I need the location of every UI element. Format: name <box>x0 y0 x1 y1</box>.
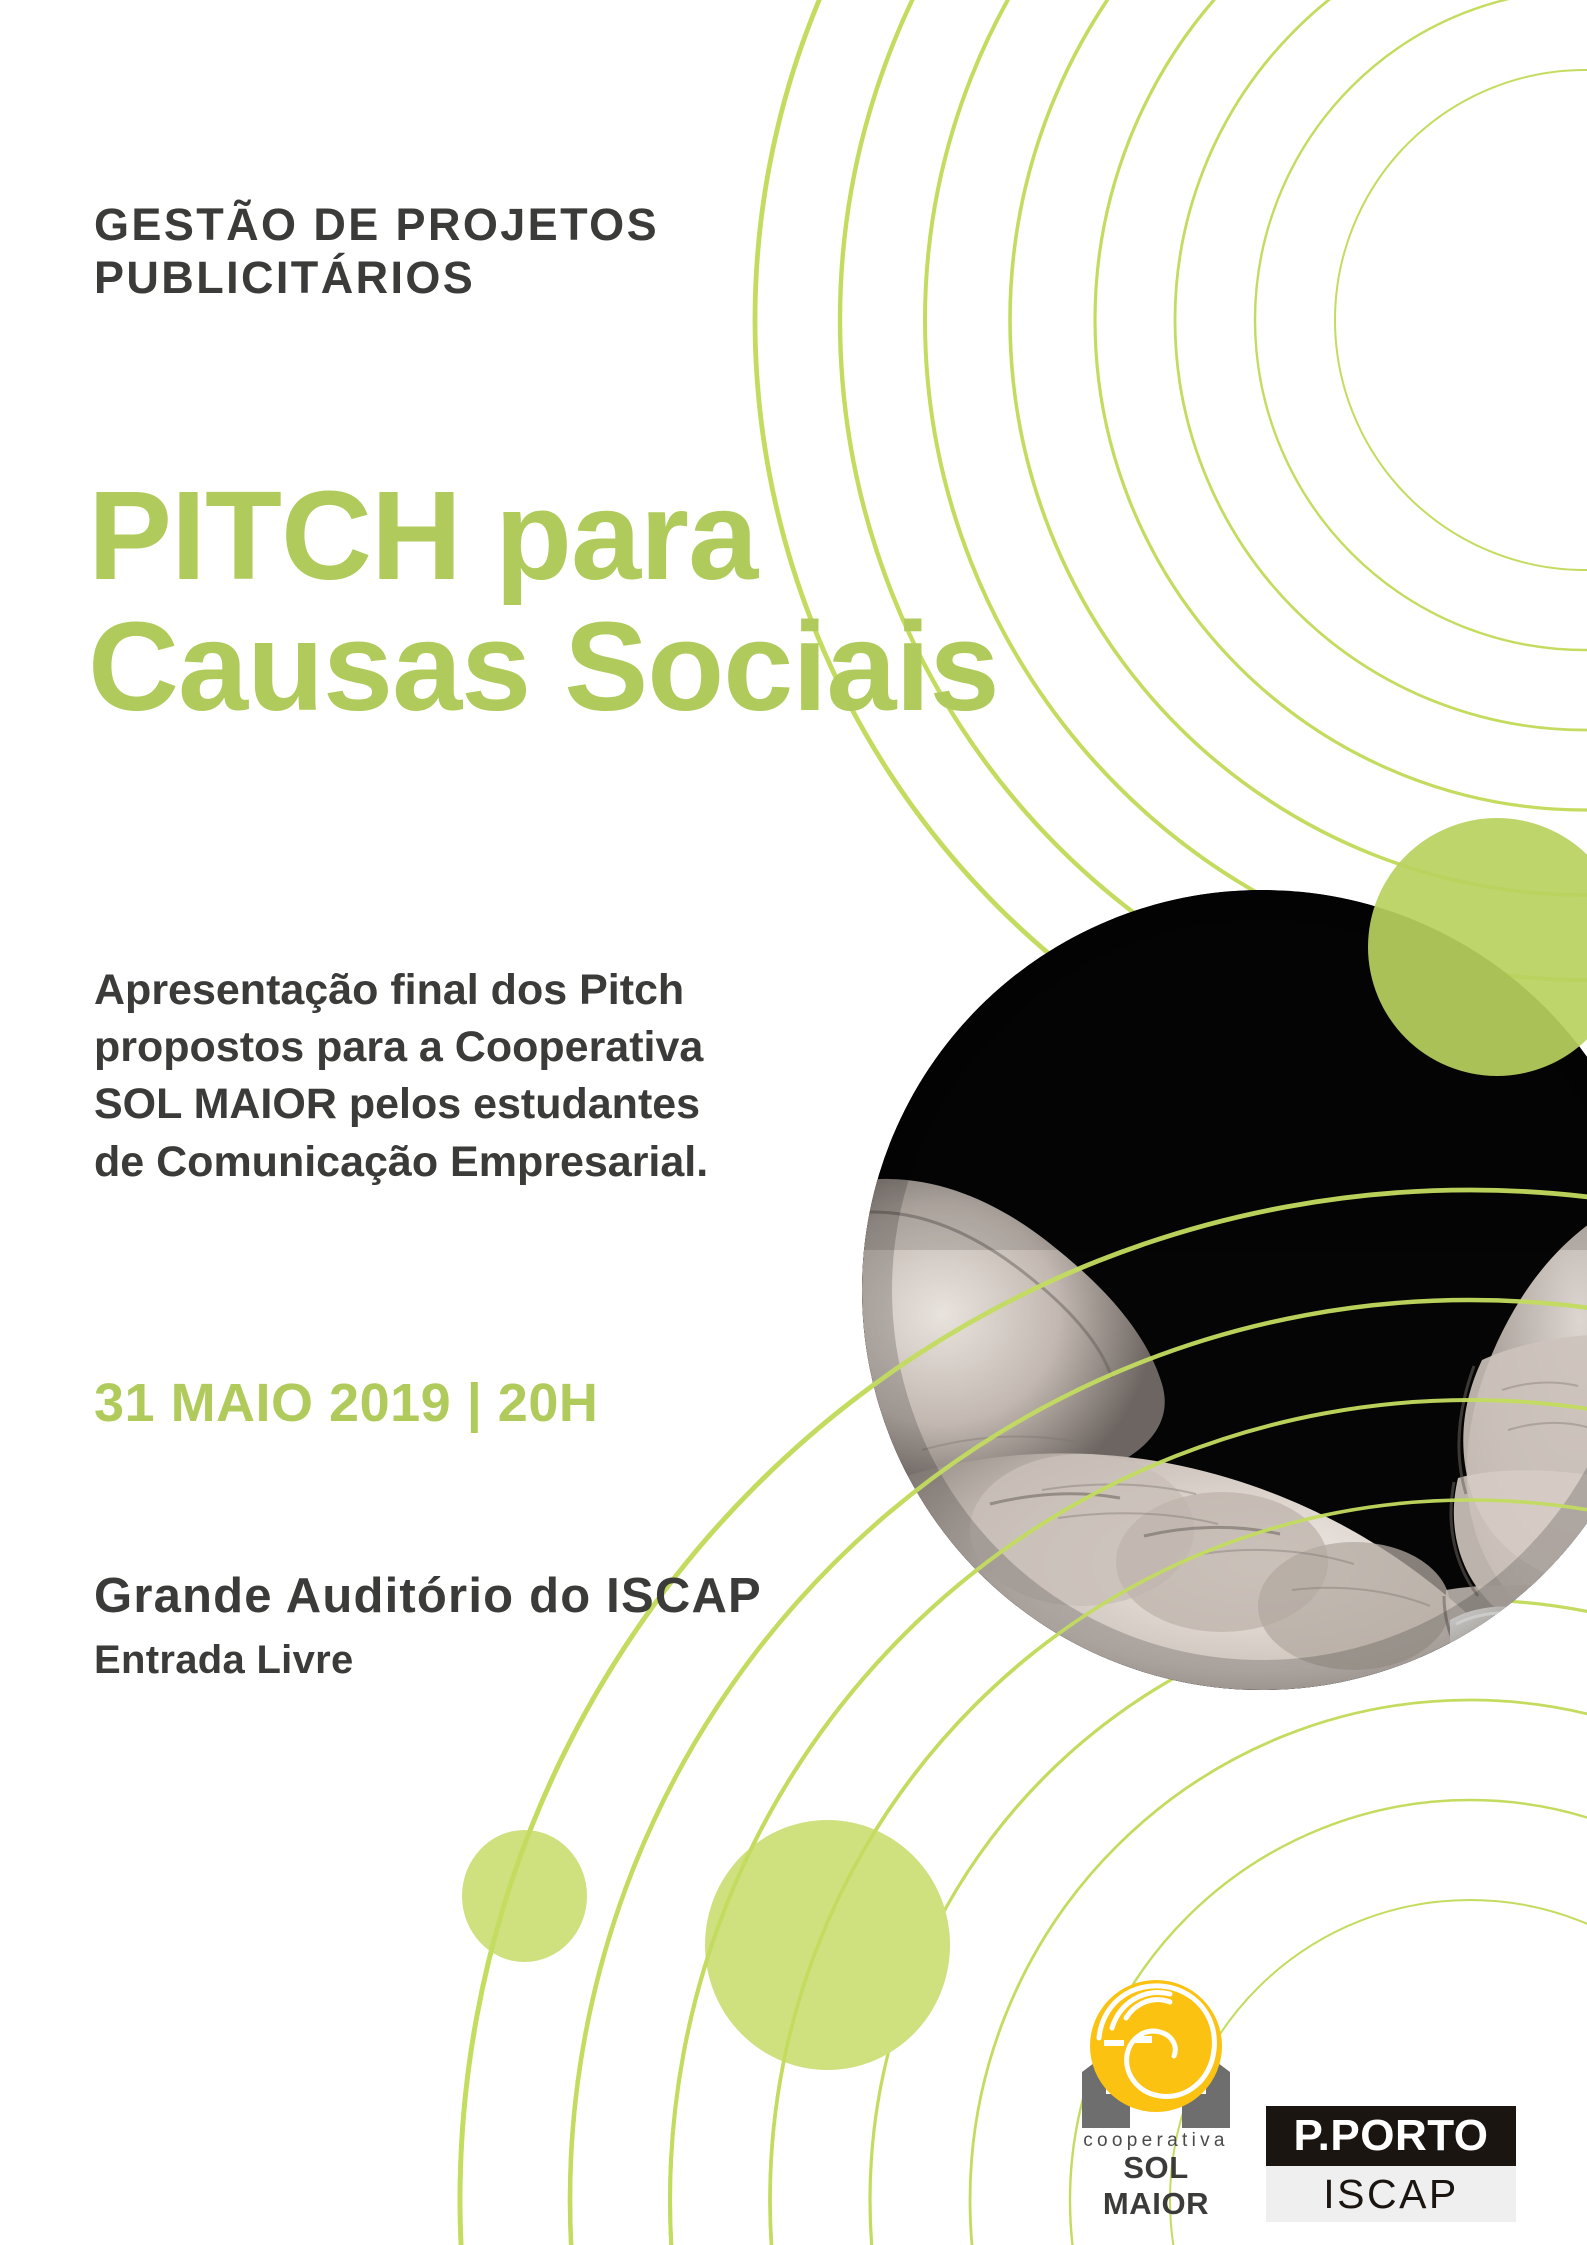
venue-name: Grande Auditório do ISCAP <box>94 1568 894 1626</box>
page-title: PITCH para Causas Sociais <box>88 470 1108 732</box>
pporto-logo-text: P.PORTO <box>1293 2114 1488 2158</box>
pporto-logo-bar: P.PORTO <box>1266 2106 1516 2166</box>
pporto-iscap-logo: P.PORTO ISCAP <box>1266 2106 1516 2222</box>
logo-row: cooperativa SOL MAIOR P.PORTO ISCAP <box>1072 2002 1552 2222</box>
event-description: Apresentação final dos Pitch propostos p… <box>94 962 754 1191</box>
poster-content: GESTÃO DE PROJETOS PUBLICITÁRIOS PITCH p… <box>0 0 1587 2245</box>
sol-maior-spiral-icon <box>1072 1976 1240 2128</box>
event-datetime: 31 MAIO 2019 | 20H <box>94 1374 598 1433</box>
headline-line-2: Causas Sociais <box>88 601 1108 732</box>
poster-canvas: GESTÃO DE PROJETOS PUBLICITÁRIOS PITCH p… <box>0 0 1587 2245</box>
sol-maior-logo-line2: SOL MAIOR <box>1072 2150 1240 2222</box>
sol-maior-logo-line1: cooperativa <box>1072 2130 1240 2152</box>
course-title-eyebrow: GESTÃO DE PROJETOS PUBLICITÁRIOS <box>94 198 854 304</box>
iscap-logo-text: ISCAP <box>1323 2174 1459 2215</box>
headline-line-1: PITCH para <box>88 470 1108 601</box>
sol-maior-logo: cooperativa SOL MAIOR <box>1072 1976 1240 2222</box>
venue-entry-note: Entrada Livre <box>94 1636 894 1684</box>
iscap-logo-bar: ISCAP <box>1266 2166 1516 2222</box>
event-venue-block: Grande Auditório do ISCAP Entrada Livre <box>94 1568 894 1684</box>
